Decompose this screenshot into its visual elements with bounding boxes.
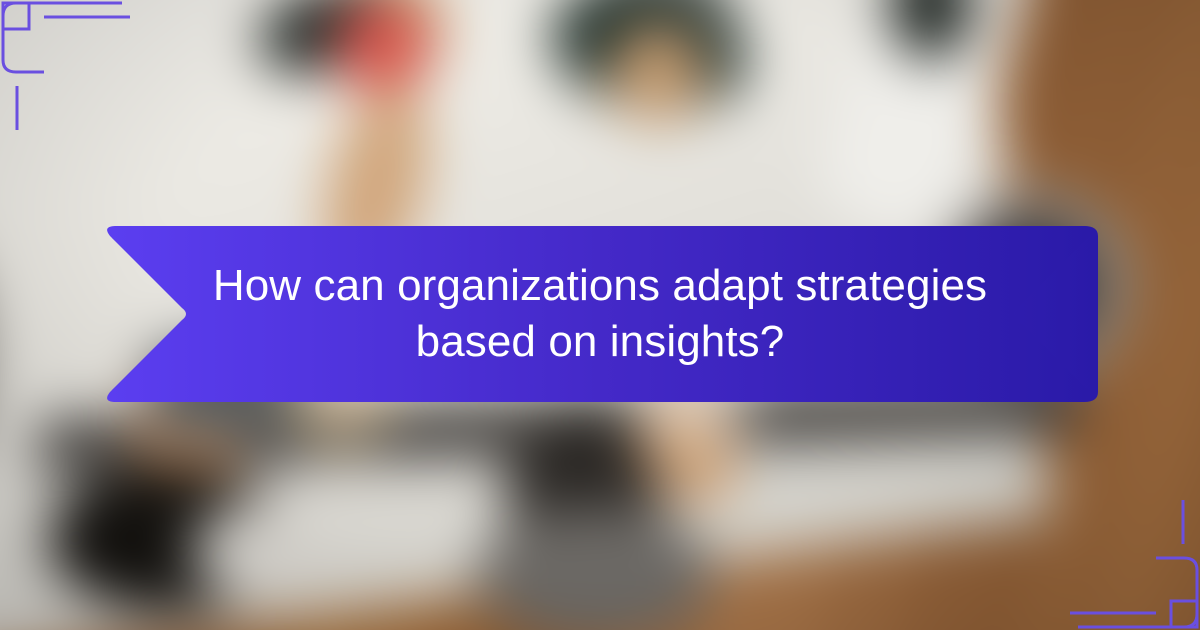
page-title: How can organizations adapt strategies b… [212, 258, 988, 370]
headline-ribbon: How can organizations adapt strategies b… [102, 224, 1098, 404]
headline-text-container: How can organizations adapt strategies b… [102, 224, 1098, 404]
banner-card: How can organizations adapt strategies b… [0, 0, 1200, 630]
